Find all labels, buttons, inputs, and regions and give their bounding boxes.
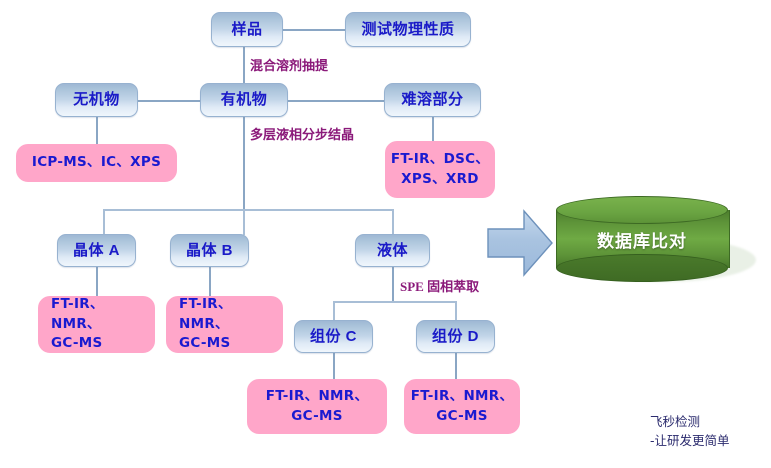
connector-to-crystal-b xyxy=(243,209,245,235)
flowchart-canvas: 混合溶剂抽提 多层液相分步结晶 SPE 固相萃取 样品 测试物理性质 无机物 有… xyxy=(0,0,771,468)
methods-crystal-b: FT-IR、NMR、 GC-MS xyxy=(166,296,283,353)
connector-inorganic-to-organic xyxy=(138,100,200,102)
cylinder-bottom-ellipse xyxy=(556,254,728,282)
connector-insoluble-to-methods xyxy=(432,117,434,142)
methods-fraction-d-line-2: GC-MS xyxy=(409,407,515,427)
connector-sample-to-organic xyxy=(243,47,245,86)
node-inorganic[interactable]: 无机物 xyxy=(55,83,138,117)
connector-fraction-d-to-methods xyxy=(455,352,457,380)
methods-fraction-c-line-1: FT-IR、NMR、 xyxy=(252,387,382,407)
methods-fraction-d-line-1: FT-IR、NMR、 xyxy=(409,387,515,407)
methods-crystal-a-line-1: FT-IR、NMR、 xyxy=(51,295,150,334)
connector-to-fraction-c xyxy=(333,301,335,321)
connector-liquid-down xyxy=(392,266,394,302)
node-crystal-b[interactable]: 晶体 B xyxy=(170,234,249,267)
database-label: 数据库比对 xyxy=(556,222,728,256)
connector-crystal-a-to-methods xyxy=(96,266,98,297)
edge-label-spe: SPE 固相萃取 xyxy=(400,276,479,295)
methods-crystal-b-line-1: FT-IR、NMR、 xyxy=(179,295,278,334)
node-organic[interactable]: 有机物 xyxy=(200,83,288,117)
methods-fraction-c-line-2: GC-MS xyxy=(252,407,382,427)
database-cylinder[interactable]: 数据库比对 xyxy=(556,196,756,286)
node-liquid[interactable]: 液体 xyxy=(355,234,430,267)
node-insoluble[interactable]: 难溶部分 xyxy=(384,83,481,117)
footer-note-line-2: -让研发更简单 xyxy=(650,432,730,451)
connector-spe-split-bar xyxy=(333,301,456,303)
connector-to-crystal-a xyxy=(103,209,105,235)
methods-insoluble: FT-IR、DSC、 XPS、XRD xyxy=(385,141,495,198)
methods-crystal-a-line-2: GC-MS xyxy=(51,334,150,354)
connector-to-fraction-d xyxy=(455,301,457,321)
node-sample[interactable]: 样品 xyxy=(211,12,283,47)
methods-crystal-a: FT-IR、NMR、 GC-MS xyxy=(38,296,155,353)
methods-fraction-d: FT-IR、NMR、 GC-MS xyxy=(404,379,520,434)
edge-label-extraction: 混合溶剂抽提 xyxy=(250,55,328,74)
methods-inorganic-line-1: ICP-MS、IC、XPS xyxy=(21,153,172,173)
node-physical-test[interactable]: 测试物理性质 xyxy=(345,12,471,47)
footer-note: 飞秒检测 -让研发更简单 xyxy=(650,413,730,451)
node-fraction-c[interactable]: 组份 C xyxy=(294,320,373,353)
connector-organic-down xyxy=(243,117,245,210)
connector-to-liquid xyxy=(392,209,394,235)
edge-label-crystallization: 多层液相分步结晶 xyxy=(250,124,354,143)
node-fraction-d[interactable]: 组份 D xyxy=(416,320,495,353)
connector-crystal-b-to-methods xyxy=(209,266,211,297)
methods-insoluble-line-1: FT-IR、DSC、 xyxy=(390,150,490,170)
connector-sample-to-physical-test xyxy=(283,29,345,31)
methods-crystal-b-line-2: GC-MS xyxy=(179,334,278,354)
methods-insoluble-line-2: XPS、XRD xyxy=(390,170,490,190)
cylinder-top-ellipse xyxy=(556,196,728,224)
connector-inorganic-to-methods xyxy=(96,117,98,145)
methods-inorganic: ICP-MS、IC、XPS xyxy=(16,144,177,182)
arrow-right-icon xyxy=(486,207,554,279)
methods-fraction-c: FT-IR、NMR、 GC-MS xyxy=(247,379,387,434)
footer-note-line-1: 飞秒检测 xyxy=(650,413,730,432)
connector-crystallization-split-bar xyxy=(103,209,393,211)
connector-organic-to-insoluble xyxy=(288,100,384,102)
node-crystal-a[interactable]: 晶体 A xyxy=(57,234,136,267)
connector-fraction-c-to-methods xyxy=(333,352,335,380)
